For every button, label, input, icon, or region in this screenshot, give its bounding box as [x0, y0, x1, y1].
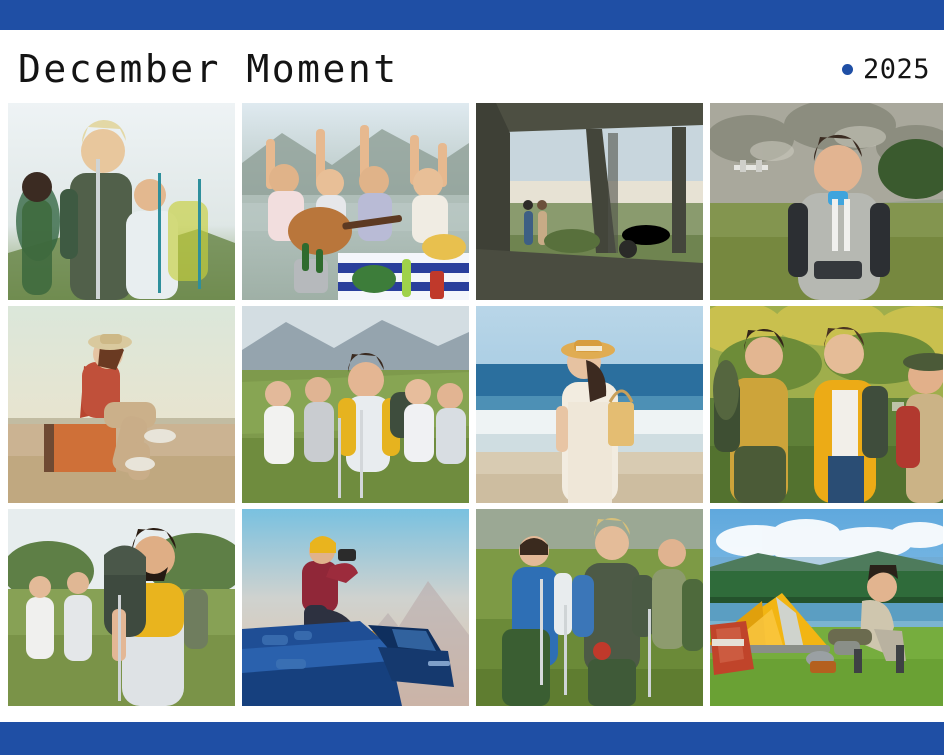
year-label: 2025 — [863, 56, 930, 83]
photo-1 — [8, 103, 235, 300]
photo-8 — [710, 306, 943, 503]
photo-cell[interactable] — [710, 509, 943, 706]
bottom-brand-bar — [0, 722, 944, 755]
top-brand-bar — [0, 0, 944, 30]
photo-cell[interactable] — [242, 509, 469, 706]
photo-cell[interactable] — [242, 306, 469, 503]
page-header: December Moment 2025 — [0, 30, 944, 103]
photo-5 — [8, 306, 235, 503]
photo-cell[interactable] — [476, 509, 703, 706]
photo-cell[interactable] — [8, 509, 235, 706]
photo-6 — [242, 306, 469, 503]
photo-4 — [710, 103, 943, 300]
photo-grid — [8, 103, 944, 706]
photo-cell[interactable] — [710, 103, 943, 300]
photo-3 — [476, 103, 703, 300]
photo-cell[interactable] — [710, 306, 943, 503]
photo-cell[interactable] — [8, 103, 235, 300]
photo-2 — [242, 103, 469, 300]
photo-10 — [242, 509, 469, 706]
year-badge: 2025 — [842, 50, 930, 83]
photo-11 — [476, 509, 703, 706]
collage-page: December Moment 2025 — [0, 0, 944, 755]
photo-12 — [710, 509, 943, 706]
photo-cell[interactable] — [476, 103, 703, 300]
photo-cell[interactable] — [476, 306, 703, 503]
photo-7 — [476, 306, 703, 503]
photo-cell[interactable] — [8, 306, 235, 503]
page-title: December Moment — [18, 46, 399, 88]
photo-9 — [8, 509, 235, 706]
photo-cell[interactable] — [242, 103, 469, 300]
bullet-dot-icon — [842, 64, 853, 75]
